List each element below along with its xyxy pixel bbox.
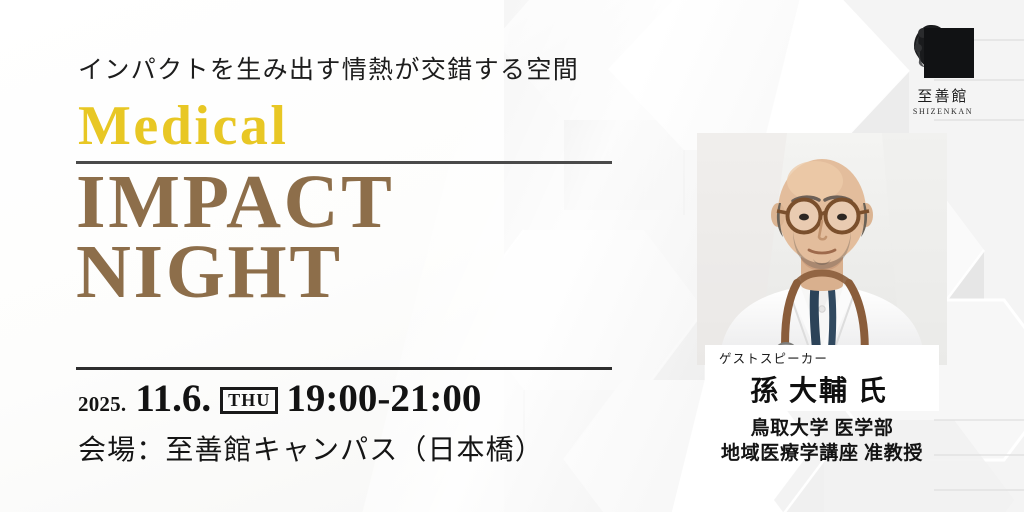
event-poster: インパクトを生み出す情熱が交錯する空間 Medical IMPACT NIGHT…	[0, 0, 1024, 512]
speaker-block: ゲストスピーカー 孫 大輔 氏 鳥取大学 医学部 地域医療学講座 准教授	[697, 133, 947, 365]
logo-name-ja: 至善館	[895, 85, 991, 106]
logo-mark	[912, 24, 974, 82]
speaker-portrait-illustration	[697, 133, 947, 365]
logo-name-en: SHIZENKAN	[895, 107, 991, 116]
event-time: 19:00-21:00	[286, 376, 481, 421]
event-day-of-week-badge: THU	[220, 387, 278, 414]
poster-main-title: IMPACT NIGHT	[76, 168, 395, 308]
affiliation-line-1: 鳥取大学 医学部	[691, 416, 953, 441]
divider-bottom	[76, 367, 612, 370]
speaker-name: 孫 大輔 氏	[705, 369, 939, 409]
event-day: 11.6.	[135, 376, 211, 421]
guest-speaker-label: ゲストスピーカー	[705, 348, 939, 367]
poster-text-column: インパクトを生み出す情熱が交錯する空間 Medical IMPACT NIGHT…	[76, 0, 636, 512]
event-datetime: 2025. 11.6. THU 19:00-21:00	[78, 376, 481, 421]
logo-square-icon	[924, 28, 974, 78]
speaker-name-box: ゲストスピーカー 孫 大輔 氏	[705, 345, 939, 411]
event-venue: 会場：至善館キャンパス（日本橋）	[78, 428, 544, 468]
event-year: 2025.	[78, 392, 126, 417]
title-word-medical: Medical	[78, 98, 288, 154]
title-word-night: NIGHT	[76, 238, 395, 308]
shizenkan-logo: 至善館 SHIZENKAN	[895, 24, 991, 116]
poster-tagline: インパクトを生み出す情熱が交錯する空間	[78, 50, 579, 86]
speaker-photo	[697, 133, 947, 365]
affiliation-line-2: 地域医療学講座 准教授	[691, 441, 953, 466]
speaker-affiliation: 鳥取大学 医学部 地域医療学講座 准教授	[691, 416, 953, 467]
